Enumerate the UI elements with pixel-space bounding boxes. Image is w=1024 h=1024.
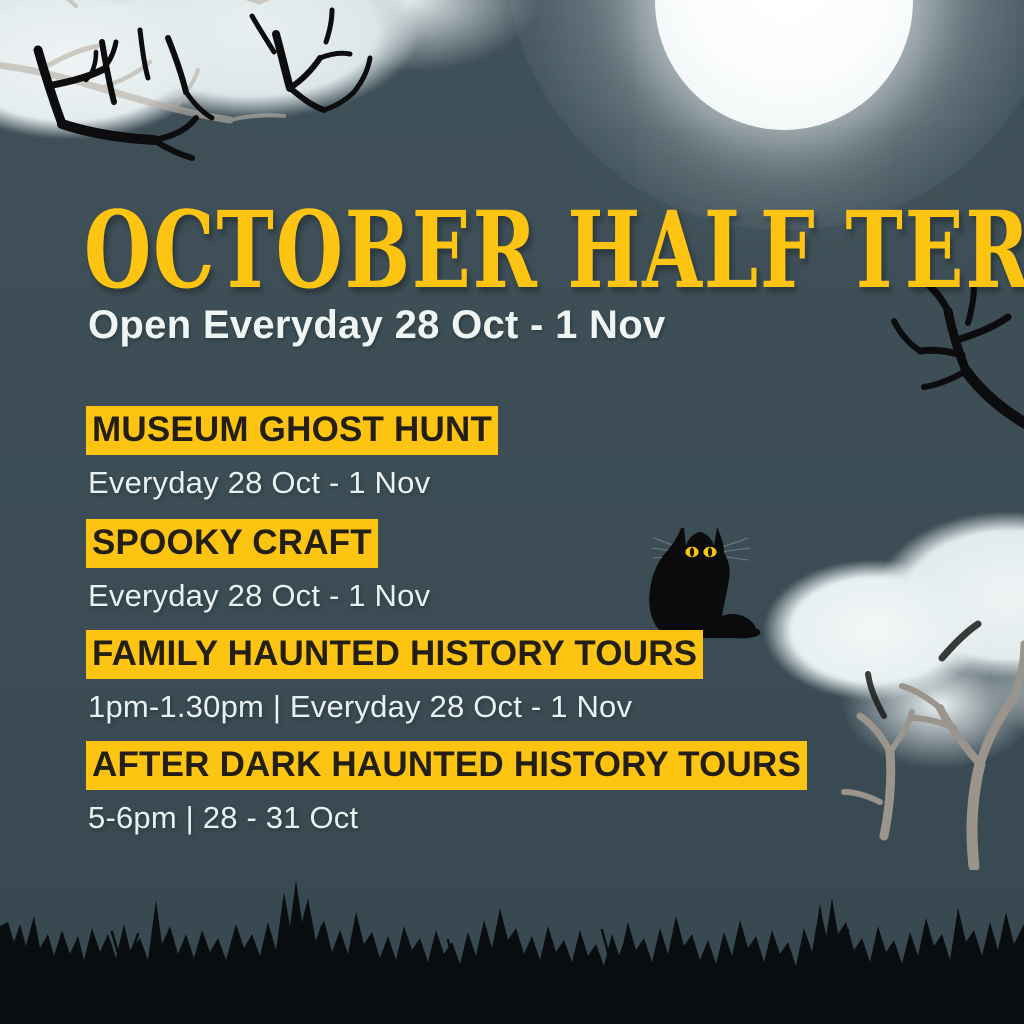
event-heading: FAMILY HAUNTED HISTORY TOURS [86, 630, 703, 679]
list-item: SPOOKY CRAFT Everyday 28 Oct - 1 Nov [0, 519, 1024, 615]
event-detail: 5-6pm | 28 - 31 Oct [88, 799, 1024, 837]
page-title: OCTOBER HALF TERM [84, 191, 1024, 309]
grass-silhouette-icon [0, 864, 1024, 1024]
page-subtitle: Open Everyday 28 Oct - 1 Nov [88, 302, 666, 348]
event-heading: SPOOKY CRAFT [86, 519, 378, 568]
list-item: FAMILY HAUNTED HISTORY TOURS 1pm-1.30pm … [0, 630, 1024, 726]
event-heading: MUSEUM GHOST HUNT [86, 406, 498, 455]
event-detail: 1pm-1.30pm | Everyday 28 Oct - 1 Nov [88, 688, 1024, 726]
list-item: AFTER DARK HAUNTED HISTORY TOURS 5-6pm |… [0, 741, 1024, 837]
event-heading: AFTER DARK HAUNTED HISTORY TOURS [86, 741, 807, 790]
list-item: MUSEUM GHOST HUNT Everyday 28 Oct - 1 No… [0, 406, 1024, 502]
event-detail: Everyday 28 Oct - 1 Nov [88, 577, 1024, 615]
halloween-event-poster: OCTOBER HALF TERM Open Everyday 28 Oct -… [0, 0, 1024, 1024]
event-list: MUSEUM GHOST HUNT Everyday 28 Oct - 1 No… [0, 406, 1024, 854]
event-detail: Everyday 28 Oct - 1 Nov [88, 464, 1024, 502]
